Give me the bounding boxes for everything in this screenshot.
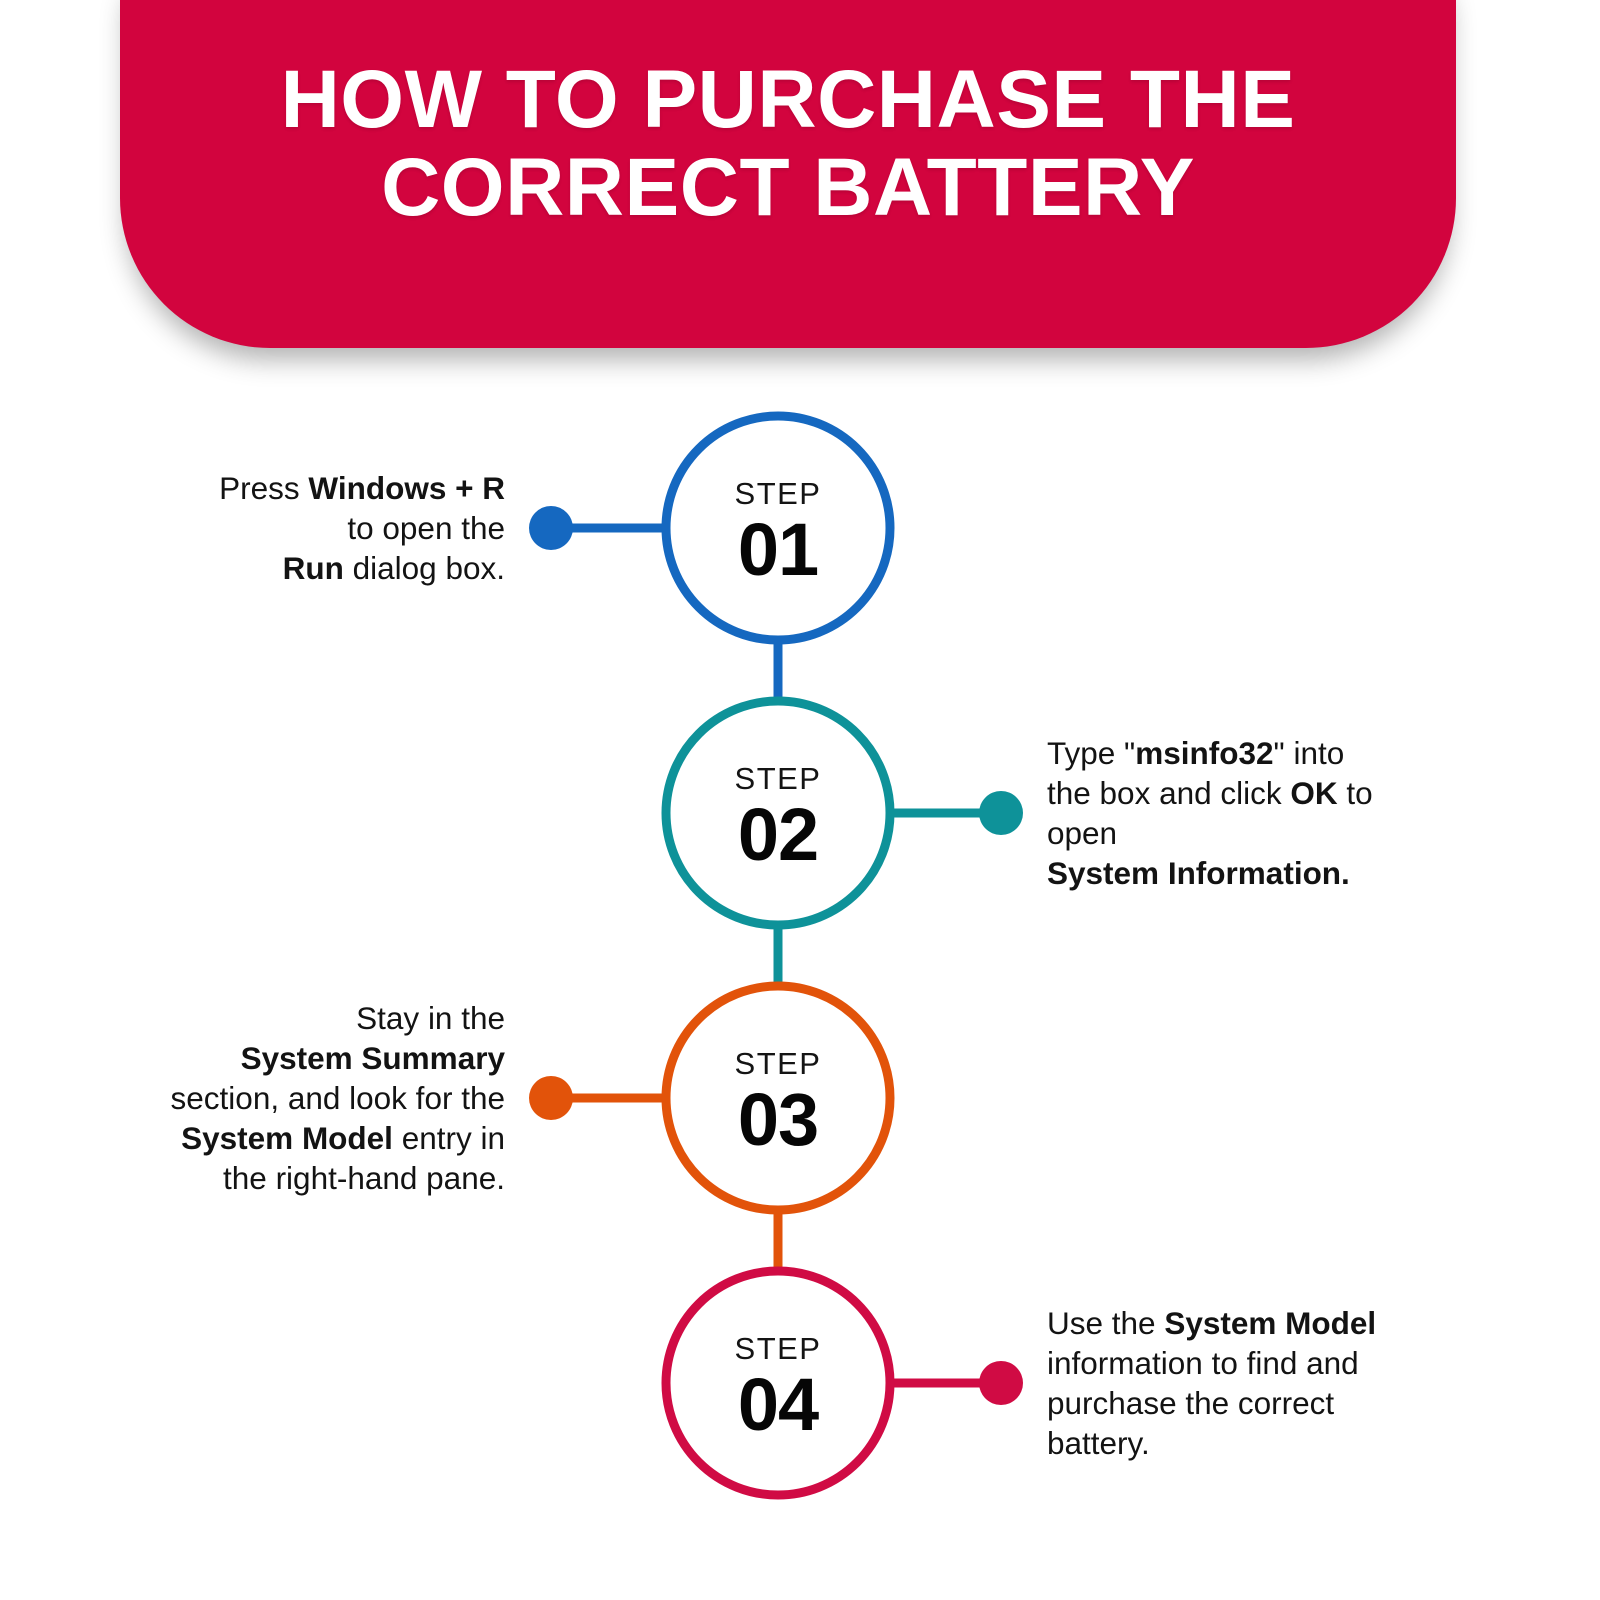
connector-dot-step-02 — [979, 791, 1023, 835]
circle-label-step-02: STEP02 — [661, 696, 895, 930]
connector-dot-step-03 — [529, 1076, 573, 1120]
connector-dot-step-01 — [529, 506, 573, 550]
step-number-step-04: 04 — [738, 1368, 818, 1442]
connector-dot-step-04 — [979, 1361, 1023, 1405]
step-number-step-03: 03 — [738, 1083, 818, 1157]
circle-label-step-01: STEP01 — [661, 411, 895, 645]
step-text-step-02: Type "msinfo32" intothe box and click OK… — [1047, 733, 1467, 893]
step-word-step-03: STEP — [735, 1048, 822, 1079]
step-word-step-02: STEP — [735, 763, 822, 794]
step-text-step-01: Press Windows + Rto open theRun dialog b… — [85, 468, 505, 588]
connector-lines — [551, 528, 1001, 1383]
circle-label-step-03: STEP03 — [661, 981, 895, 1215]
circle-label-step-04: STEP04 — [661, 1266, 895, 1500]
step-word-step-04: STEP — [735, 1333, 822, 1364]
step-text-step-04: Use the System Modelinformation to find … — [1047, 1303, 1467, 1463]
steps-flow: STEP01STEP02STEP03STEP04 Press Windows +… — [0, 0, 1600, 1600]
step-number-step-01: 01 — [738, 513, 818, 587]
step-word-step-01: STEP — [735, 478, 822, 509]
step-number-step-02: 02 — [738, 798, 818, 872]
step-text-step-03: Stay in theSystem Summarysection, and lo… — [85, 998, 505, 1198]
